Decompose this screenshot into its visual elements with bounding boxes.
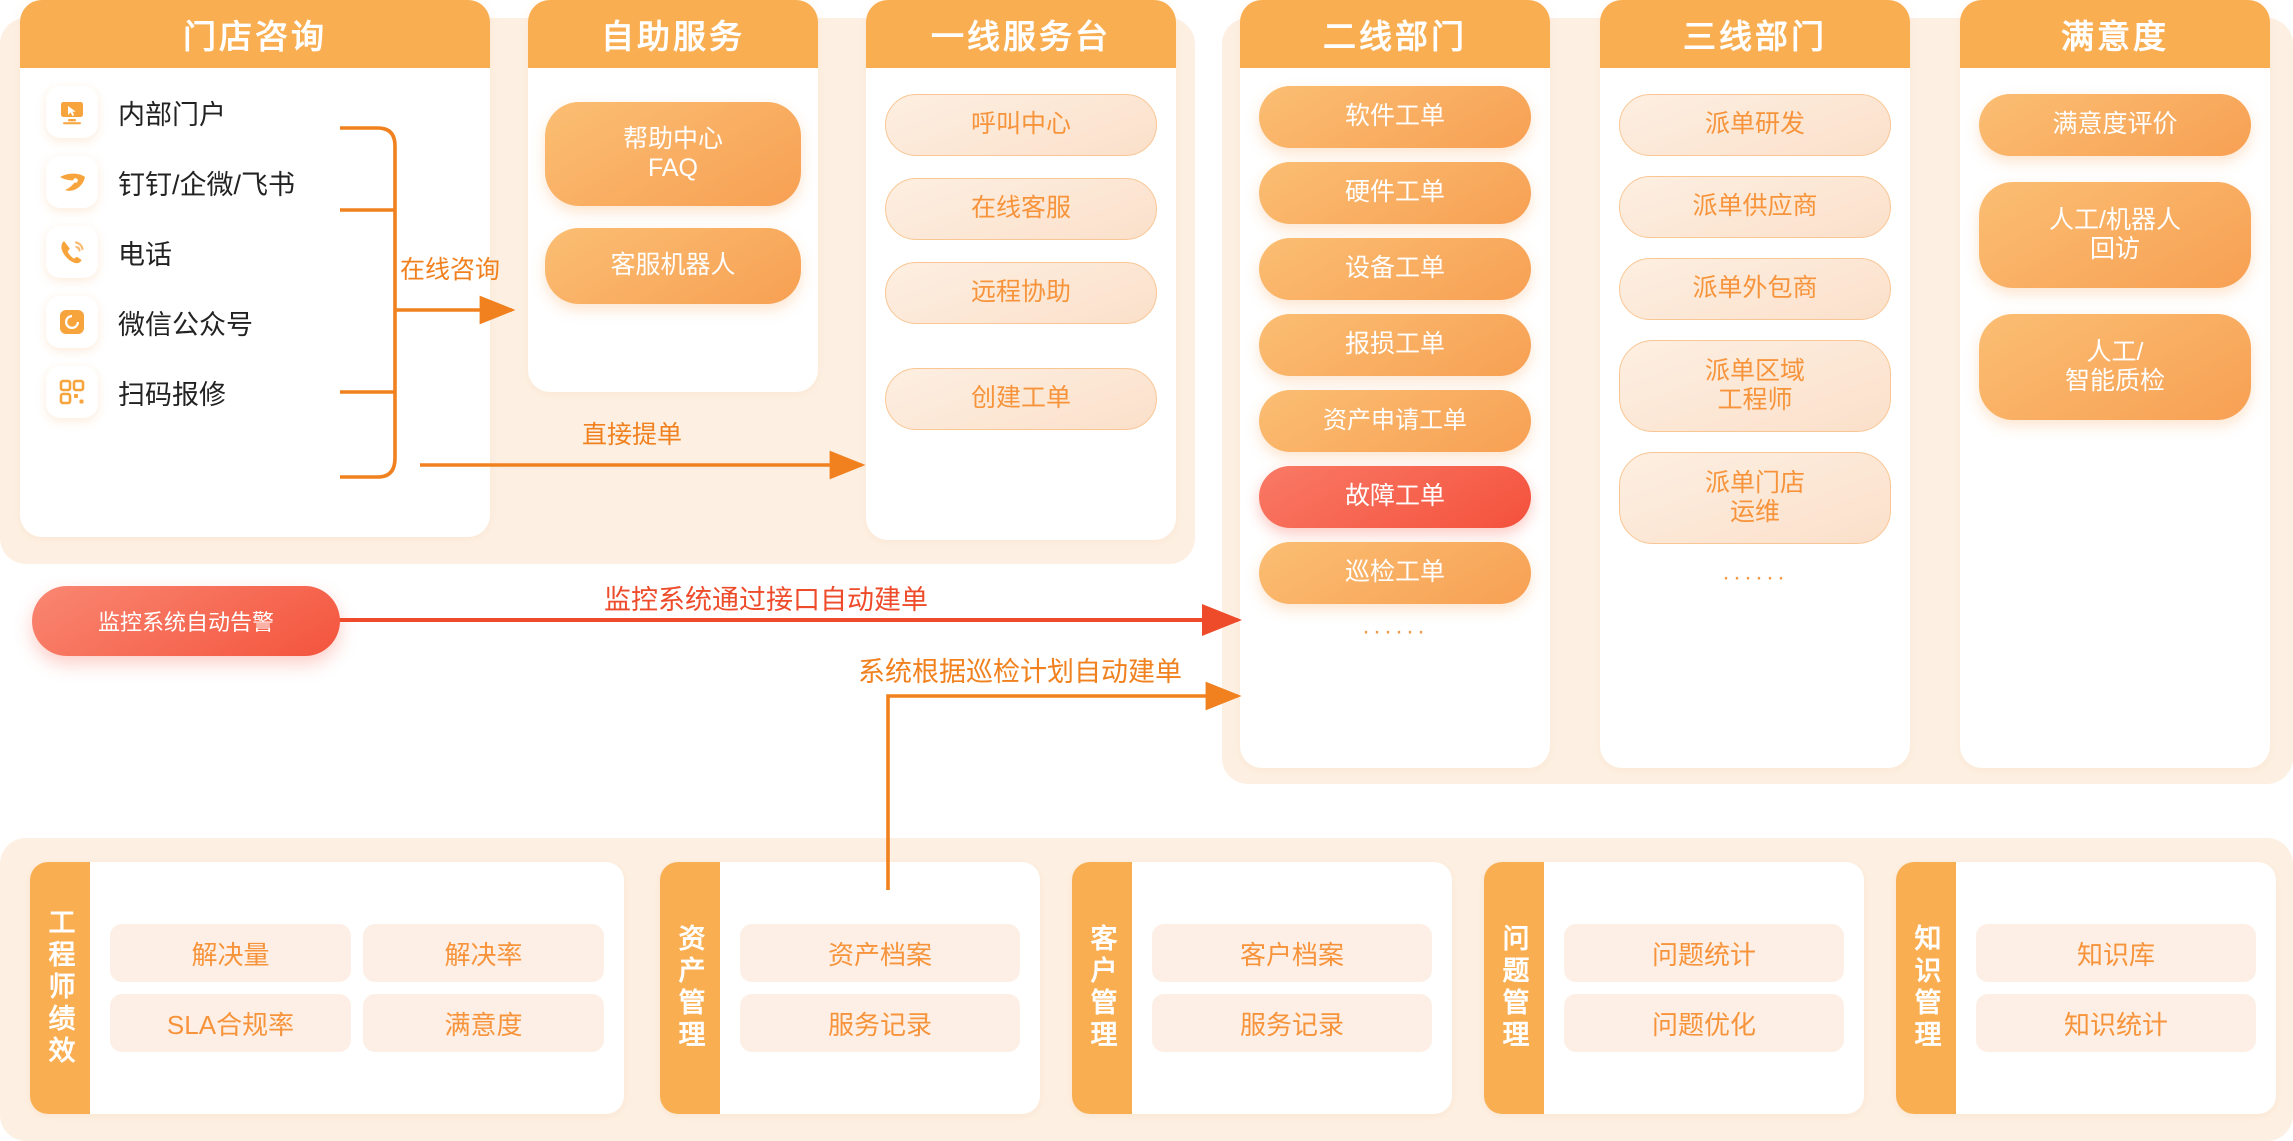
pill-dispatch-supplier[interactable]: 派单供应商 <box>1619 176 1892 238</box>
column-second-line-dept[interactable]: 二线部门 软件工单 硬件工单 设备工单 报损工单 资产申请工单 故障工单 巡检工… <box>1240 0 1550 768</box>
pill-satisfaction-rating[interactable]: 满意度评价 <box>1979 94 2252 156</box>
panel-cells: 客户档案 服务记录 <box>1132 862 1452 1114</box>
column-title-store-consult: 门店咨询 <box>20 0 490 68</box>
panel-cell[interactable]: 知识统计 <box>1976 994 2256 1052</box>
panel-knowledge-management[interactable]: 知识管理 知识库 知识统计 <box>1896 862 2276 1114</box>
panel-cell[interactable]: SLA合规率 <box>110 994 351 1052</box>
panel-cell[interactable]: 问题统计 <box>1564 924 1844 982</box>
column-title-third-line-dept: 三线部门 <box>1600 0 1910 68</box>
column-title-self-service: 自助服务 <box>528 0 818 68</box>
pill-hardware-ticket[interactable]: 硬件工单 <box>1259 162 1532 224</box>
wire-label-online-consult: 在线咨询 <box>400 250 500 286</box>
panel-cell[interactable]: 知识库 <box>1976 924 2256 982</box>
panel-cell[interactable]: 服务记录 <box>740 994 1020 1052</box>
column-third-line-dept[interactable]: 三线部门 派单研发 派单供应商 派单外包商 派单区域 工程师 派单门店 运维 ·… <box>1600 0 1910 768</box>
channel-row-internal-portal[interactable]: 内部门户 <box>46 84 226 140</box>
panel-cell[interactable]: 满意度 <box>363 994 604 1052</box>
wire-label-direct-submit: 直接提单 <box>582 415 682 451</box>
satisfaction-items: 满意度评价 人工/机器人 回访 人工/ 智能质检 <box>1960 68 2270 768</box>
panel-cell[interactable]: 解决率 <box>363 924 604 982</box>
pill-software-ticket[interactable]: 软件工单 <box>1259 86 1532 148</box>
pill-device-ticket[interactable]: 设备工单 <box>1259 238 1532 300</box>
qrcode-icon <box>46 366 98 418</box>
panel-cell[interactable]: 资产档案 <box>740 924 1020 982</box>
self-service-items: 帮助中心 FAQ 客服机器人 <box>528 68 818 392</box>
phone-icon <box>46 226 98 278</box>
column-satisfaction[interactable]: 满意度 满意度评价 人工/机器人 回访 人工/ 智能质检 <box>1960 0 2270 768</box>
monitor-alert-label: 监控系统自动告警 <box>98 605 274 637</box>
channel-label: 微信公众号 <box>118 303 253 342</box>
column-title-second-line-dept: 二线部门 <box>1240 0 1550 68</box>
wire-label-monitor-auto-create: 监控系统通过接口自动建单 <box>604 578 928 617</box>
channel-row-im-apps[interactable]: 钉钉/企微/飞书 <box>46 154 295 210</box>
monitor-alert-capsule[interactable]: 监控系统自动告警 <box>32 586 340 656</box>
panel-side-title: 资产管理 <box>660 862 720 1114</box>
column-title-satisfaction: 满意度 <box>1960 0 2270 68</box>
panel-cells: 知识库 知识统计 <box>1956 862 2276 1114</box>
panel-side-title: 工程师绩效 <box>30 862 90 1114</box>
second-line-more-indicator: ······ <box>1362 620 1428 644</box>
channel-list: 内部门户 钉钉/企微/飞书 <box>20 68 490 537</box>
channel-label: 扫码报修 <box>118 373 226 412</box>
third-line-more-indicator: ······ <box>1722 566 1788 590</box>
second-line-items: 软件工单 硬件工单 设备工单 报损工单 资产申请工单 故障工单 巡检工单 ···… <box>1240 68 1550 768</box>
channel-label: 钉钉/企微/飞书 <box>118 163 295 202</box>
pill-remote-assist[interactable]: 远程协助 <box>885 262 1158 324</box>
panel-cells: 资产档案 服务记录 <box>720 862 1040 1114</box>
channel-row-wechat-official[interactable]: 微信公众号 <box>46 294 253 350</box>
pill-fault-ticket[interactable]: 故障工单 <box>1259 466 1532 528</box>
panel-cell[interactable]: 问题优化 <box>1564 994 1844 1052</box>
pill-dispatch-regional-engineer[interactable]: 派单区域 工程师 <box>1619 340 1892 432</box>
pill-human-robot-callback[interactable]: 人工/机器人 回访 <box>1979 182 2252 288</box>
column-first-line-desk[interactable]: 一线服务台 呼叫中心 在线客服 远程协助 创建工单 <box>866 0 1176 540</box>
wechat-icon <box>46 296 98 348</box>
pill-dispatch-outsourcer[interactable]: 派单外包商 <box>1619 258 1892 320</box>
wire-label-inspection-auto-create: 系统根据巡检计划自动建单 <box>858 650 1182 689</box>
pill-human-ai-quality-check[interactable]: 人工/ 智能质检 <box>1979 314 2252 420</box>
third-line-items: 派单研发 派单供应商 派单外包商 派单区域 工程师 派单门店 运维 ······ <box>1600 68 1910 768</box>
panel-customer-management[interactable]: 客户管理 客户档案 服务记录 <box>1072 862 1452 1114</box>
pill-call-center[interactable]: 呼叫中心 <box>885 94 1158 156</box>
channel-row-qr-repair[interactable]: 扫码报修 <box>46 364 226 420</box>
panel-side-title: 知识管理 <box>1896 862 1956 1114</box>
monitor-cursor-icon <box>46 86 98 138</box>
channel-label: 电话 <box>118 233 172 272</box>
paper-plane-icon <box>46 156 98 208</box>
panel-cell[interactable]: 解决量 <box>110 924 351 982</box>
first-line-items: 呼叫中心 在线客服 远程协助 创建工单 <box>866 68 1176 540</box>
pill-create-ticket[interactable]: 创建工单 <box>885 368 1158 430</box>
panel-side-title: 问题管理 <box>1484 862 1544 1114</box>
panel-cell[interactable]: 客户档案 <box>1152 924 1432 982</box>
panel-cell[interactable]: 服务记录 <box>1152 994 1432 1052</box>
flowchart-canvas: 门店咨询 内部门户 <box>0 0 2293 1141</box>
pill-damage-ticket[interactable]: 报损工单 <box>1259 314 1532 376</box>
panel-cells: 问题统计 问题优化 <box>1544 862 1864 1114</box>
pill-dispatch-rd[interactable]: 派单研发 <box>1619 94 1892 156</box>
column-title-first-line-desk: 一线服务台 <box>866 0 1176 68</box>
pill-online-support[interactable]: 在线客服 <box>885 178 1158 240</box>
column-self-service[interactable]: 自助服务 帮助中心 FAQ 客服机器人 <box>528 0 818 392</box>
panel-asset-management[interactable]: 资产管理 资产档案 服务记录 <box>660 862 1040 1114</box>
panel-side-title: 客户管理 <box>1072 862 1132 1114</box>
pill-dispatch-store-ops[interactable]: 派单门店 运维 <box>1619 452 1892 544</box>
panel-engineer-performance[interactable]: 工程师绩效 解决量 解决率 SLA合规率 满意度 <box>30 862 624 1114</box>
pill-asset-request-ticket[interactable]: 资产申请工单 <box>1259 390 1532 452</box>
panel-cells: 解决量 解决率 SLA合规率 满意度 <box>90 862 624 1114</box>
channel-row-phone[interactable]: 电话 <box>46 224 172 280</box>
pill-help-center-faq[interactable]: 帮助中心 FAQ <box>545 102 800 206</box>
pill-inspection-ticket[interactable]: 巡检工单 <box>1259 542 1532 604</box>
panel-issue-management[interactable]: 问题管理 问题统计 问题优化 <box>1484 862 1864 1114</box>
pill-service-robot[interactable]: 客服机器人 <box>545 228 800 304</box>
channel-label: 内部门户 <box>118 93 226 132</box>
